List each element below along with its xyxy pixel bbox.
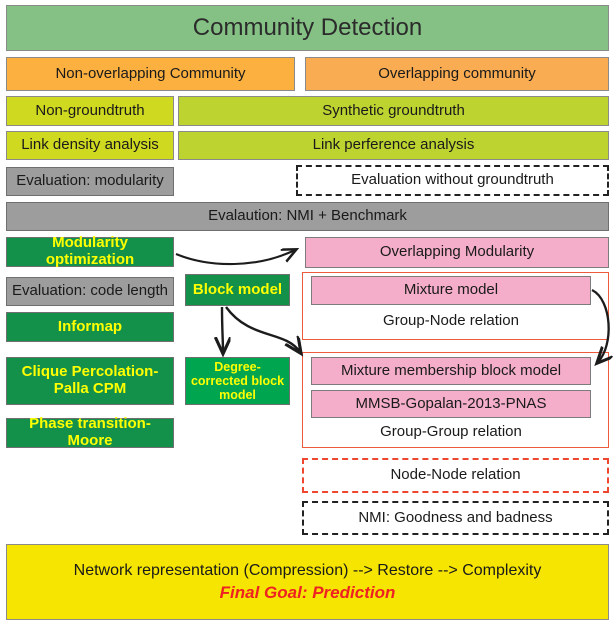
evaluation-modularity-box: Evaluation: modularity <box>6 167 174 196</box>
method-phase-transition-moore: Phase transition-Moore <box>6 418 174 448</box>
diagram-canvas: Community Detection Non-overlapping Comm… <box>0 0 615 625</box>
evaluation-without-groundtruth-box: Evaluation without groundtruth <box>296 165 609 196</box>
mixture-model-box: Mixture model <box>311 276 591 305</box>
nmi-goodness-label: NMI: Goodness and badness <box>358 510 552 527</box>
method-clique-percolation-cpm: Clique Percolation-Palla CPM <box>6 357 174 405</box>
method-label: Clique Percolation-Palla CPM <box>7 364 173 398</box>
page-title: Community Detection <box>193 15 422 42</box>
evaluation-code-length-box: Evaluation: code length <box>6 277 174 306</box>
evaluation-code-length-label: Evaluation: code length <box>12 283 168 300</box>
degree-corrected-block-model-box: Degree-corrected block model <box>185 357 290 405</box>
branch-label: Overlapping community <box>378 66 536 83</box>
block-model-box: Block model <box>185 274 290 306</box>
group-node-relation-label: Group-Node relation <box>383 313 519 330</box>
block-model-label: Block model <box>193 282 282 299</box>
final-goal-stack: Network representation (Compression) -->… <box>74 562 542 602</box>
nmi-goodness-badness-box: NMI: Goodness and badness <box>302 501 609 535</box>
link-density-analysis-box: Link density analysis <box>6 131 174 160</box>
method-label: Phase transition-Moore <box>7 416 173 450</box>
arrow-block-model-to-mixture-membership <box>226 307 300 352</box>
network-representation-label: Network representation (Compression) -->… <box>74 562 542 580</box>
non-groundtruth-box: Non-groundtruth <box>6 96 174 126</box>
evaluation-modularity-label: Evaluation: modularity <box>16 173 164 190</box>
branch-overlapping-community: Overlapping community <box>305 57 609 91</box>
final-goal-box: Network representation (Compression) -->… <box>6 544 609 620</box>
mixture-model-label: Mixture model <box>404 282 498 299</box>
node-node-relation-box: Node-Node relation <box>302 458 609 493</box>
evaluation-without-groundtruth-label: Evaluation without groundtruth <box>351 172 554 189</box>
mmsb-label: MMSB-Gopalan-2013-PNAS <box>356 396 547 413</box>
diagram-title-box: Community Detection <box>6 5 609 51</box>
degree-corrected-label: Degree-corrected block model <box>186 360 289 402</box>
synthetic-groundtruth-box: Synthetic groundtruth <box>178 96 609 126</box>
group-node-relation-caption: Group-Node relation <box>311 307 591 335</box>
method-modularity-optimization: Modularity optimization <box>6 237 174 267</box>
evaluation-nmi-benchmark-label: Evalaution: NMI + Benchmark <box>208 208 407 225</box>
branch-non-overlapping-community: Non-overlapping Community <box>6 57 295 91</box>
link-density-label: Link density analysis <box>21 137 159 154</box>
evaluation-nmi-benchmark-box: Evalaution: NMI + Benchmark <box>6 202 609 231</box>
group-group-relation-caption: Group-Group relation <box>311 419 591 445</box>
method-label: Modularity optimization <box>7 235 173 269</box>
non-groundtruth-label: Non-groundtruth <box>35 103 144 120</box>
group-group-relation-label: Group-Group relation <box>380 424 522 441</box>
synthetic-groundtruth-label: Synthetic groundtruth <box>322 103 465 120</box>
arrow-modularity-to-overlapping-modularity <box>176 250 295 264</box>
final-goal-label: Final Goal: Prediction <box>220 583 396 602</box>
link-preference-analysis-box: Link perference analysis <box>178 131 609 160</box>
arrow-block-model-to-degree-corrected <box>222 307 223 352</box>
node-node-relation-label: Node-Node relation <box>390 467 520 484</box>
overlapping-modularity-label: Overlapping Modularity <box>380 244 534 261</box>
mmsb-gopalan-box: MMSB-Gopalan-2013-PNAS <box>311 390 591 418</box>
link-preference-label: Link perference analysis <box>313 137 475 154</box>
overlapping-modularity-box: Overlapping Modularity <box>305 237 609 268</box>
branch-label: Non-overlapping Community <box>55 66 245 83</box>
method-label: Informap <box>58 319 122 336</box>
mixture-membership-block-model-box: Mixture membership block model <box>311 357 591 385</box>
mixture-membership-label: Mixture membership block model <box>341 363 561 380</box>
method-informap: Informap <box>6 312 174 342</box>
